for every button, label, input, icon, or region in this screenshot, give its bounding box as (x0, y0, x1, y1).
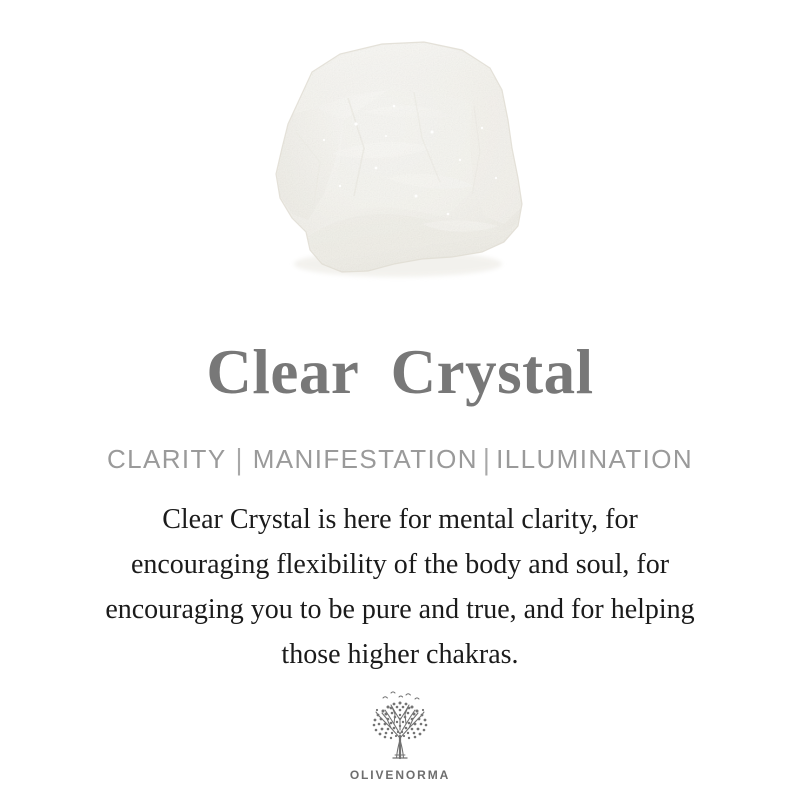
product-description: Clear Crystal is here for mental clarity… (40, 497, 760, 677)
keyword-clarity: CLARITY (107, 444, 227, 474)
clear-crystal-illustration (236, 28, 536, 286)
brand-logo: OLIVENORMA (0, 686, 800, 782)
description-line: encouraging flexibility of the body and … (40, 542, 760, 587)
brand-name: OLIVENORMA (350, 768, 450, 782)
description-line: Clear Crystal is here for mental clarity… (40, 497, 760, 542)
birds-icon (383, 692, 419, 699)
hero-image-area (0, 0, 800, 310)
product-info-card: Clear Crystal CLARITY|MANIFESTATION|ILLU… (0, 0, 800, 800)
keyword-separator-1: | (227, 441, 253, 478)
keyword-separator-2: | (478, 441, 496, 478)
crystal-image (236, 28, 536, 286)
keyword-illumination: ILLUMINATION (496, 444, 693, 474)
olive-tree-icon (361, 686, 439, 766)
keyword-subtitle: CLARITY|MANIFESTATION|ILLUMINATION (0, 443, 800, 475)
product-title: Clear Crystal (0, 337, 800, 407)
keyword-manifestation: MANIFESTATION (253, 444, 478, 474)
description-line: those higher chakras. (40, 632, 760, 677)
description-line: encouraging you to be pure and true, and… (40, 587, 760, 632)
